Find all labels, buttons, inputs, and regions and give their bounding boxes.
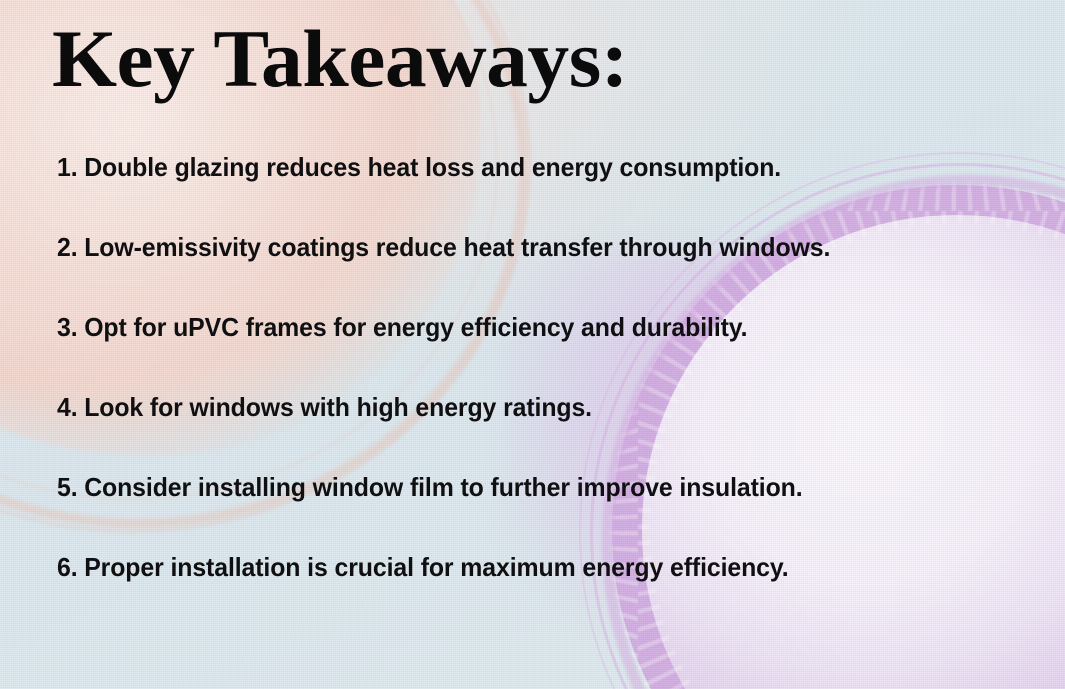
list-item-number: 4. bbox=[57, 392, 78, 422]
list-item-text: Look for windows with high energy rating… bbox=[84, 392, 592, 422]
list-item: 5. Consider installing window film to fu… bbox=[57, 472, 981, 552]
list-item: 4. Look for windows with high energy rat… bbox=[57, 392, 981, 472]
list-item: 2. Low-emissivity coatings reduce heat t… bbox=[57, 232, 981, 312]
list-item: 3. Opt for uPVC frames for energy effici… bbox=[57, 312, 981, 392]
list-item-number: 5. bbox=[57, 472, 78, 502]
poster-content: Key Takeaways: 1. Double glazing reduces… bbox=[0, 0, 1065, 689]
list-item-text: Opt for uPVC frames for energy efficienc… bbox=[84, 312, 747, 342]
list-item-text: Consider installing window film to furth… bbox=[84, 472, 802, 502]
takeaway-list: 1. Double glazing reduces heat loss and … bbox=[57, 152, 1025, 632]
list-item: 6. Proper installation is crucial for ma… bbox=[57, 552, 981, 632]
list-item-number: 3. bbox=[57, 312, 78, 342]
list-item-number: 1. bbox=[57, 152, 78, 182]
list-item-text: Proper installation is crucial for maxim… bbox=[84, 552, 788, 582]
key-takeaways-poster: Key Takeaways: 1. Double glazing reduces… bbox=[0, 0, 1065, 689]
list-item-text: Low-emissivity coatings reduce heat tran… bbox=[84, 232, 830, 262]
list-item-text: Double glazing reduces heat loss and ene… bbox=[84, 152, 781, 182]
page-title: Key Takeaways: bbox=[52, 16, 628, 102]
list-item-number: 6. bbox=[57, 552, 78, 582]
list-item: 1. Double glazing reduces heat loss and … bbox=[57, 152, 981, 232]
list-item-number: 2. bbox=[57, 232, 78, 262]
